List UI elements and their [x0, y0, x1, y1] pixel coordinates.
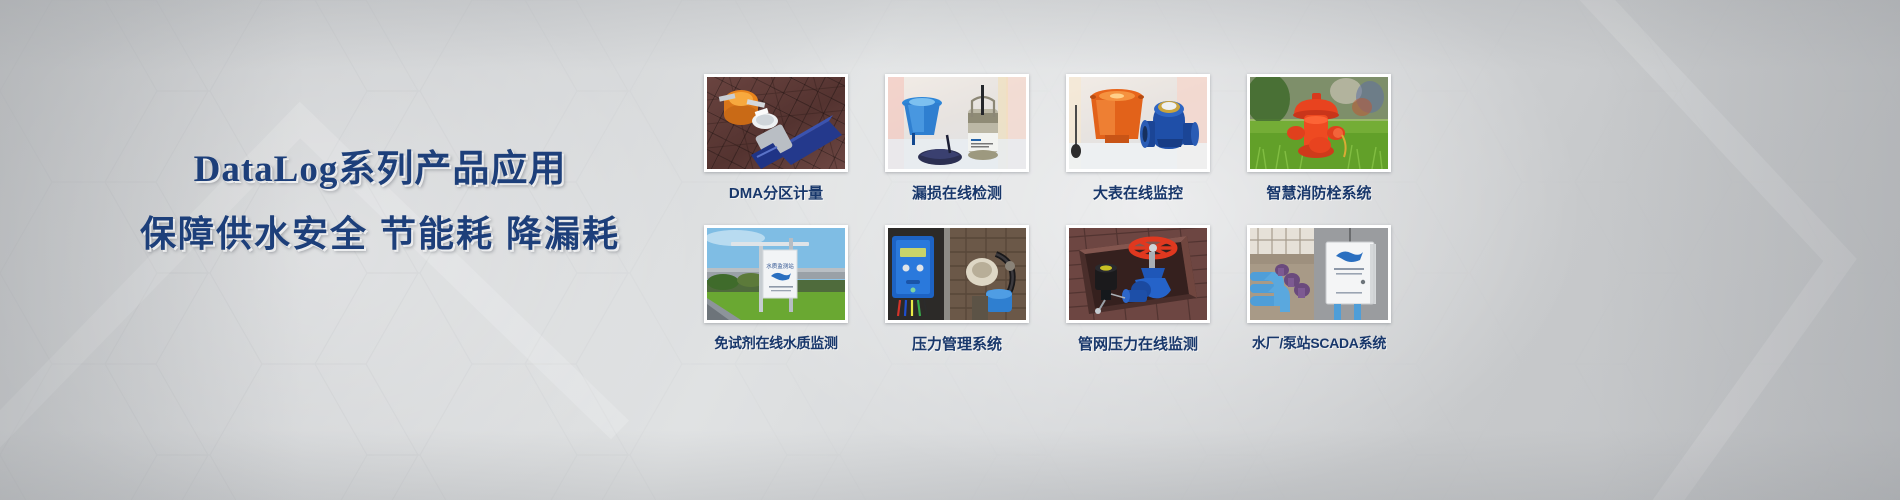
thumbnail-image-pump-station-scada	[1250, 228, 1388, 320]
grid-item-large-meter[interactable]: 大表在线监控	[1066, 74, 1210, 203]
thumbnail-image-fire-hydrant	[1250, 77, 1388, 169]
thumbnail-frame[interactable]	[704, 74, 848, 172]
thumbnail-image-valve-chamber	[1069, 228, 1207, 320]
headline-block: DataLog系列产品应用 保障供水安全 节能耗 降漏耗	[0, 146, 760, 260]
grid-item-leak-detection[interactable]: 漏损在线检测	[885, 74, 1029, 203]
headline-line-2: 保障供水安全 节能耗 降漏耗	[0, 208, 760, 260]
grid-item-smart-hydrant[interactable]: 智慧消防栓系统	[1247, 74, 1391, 203]
product-application-banner: DataLog系列产品应用 保障供水安全 节能耗 降漏耗	[0, 0, 1900, 500]
thumbnail-frame[interactable]	[885, 225, 1029, 323]
thumbnail-frame[interactable]	[1066, 74, 1210, 172]
headline-line-1: DataLog系列产品应用	[0, 146, 760, 194]
thumbnail-image-pressure-controller	[888, 228, 1026, 320]
grid-item-caption: 智慧消防栓系统	[1247, 182, 1391, 203]
grid-item-water-quality[interactable]: 水质监测站 免试剂在线水质监测	[704, 225, 848, 354]
grid-item-pressure-management[interactable]: 压力管理系统	[885, 225, 1029, 354]
grid-item-caption: 压力管理系统	[885, 333, 1029, 354]
grid-item-network-pressure[interactable]: 管网压力在线监测	[1066, 225, 1210, 354]
grid-item-scada[interactable]: 水厂/泵站SCADA系统	[1247, 225, 1391, 354]
thumbnail-image-water-quality-station: 水质监测站	[707, 228, 845, 320]
thumbnail-image-leak-loggers	[888, 77, 1026, 169]
thumbnail-frame[interactable]: 水质监测站	[704, 225, 848, 323]
grid-item-caption: 漏损在线检测	[885, 182, 1029, 203]
thumbnail-frame[interactable]	[1247, 74, 1391, 172]
thumbnail-image-large-meter	[1069, 77, 1207, 169]
thumbnail-frame[interactable]	[885, 74, 1029, 172]
grid-item-caption: DMA分区计量	[704, 182, 848, 203]
grid-item-caption: 水厂/泵站SCADA系统	[1247, 333, 1391, 353]
grid-item-dma[interactable]: DMA分区计量	[704, 74, 848, 203]
grid-item-caption: 大表在线监控	[1066, 182, 1210, 203]
application-grid: DMA分区计量	[704, 74, 1391, 354]
thumbnail-frame[interactable]	[1066, 225, 1210, 323]
thumbnail-image-dma-flowmeter	[707, 77, 845, 169]
grid-item-caption: 管网压力在线监测	[1066, 333, 1210, 354]
thumbnail-frame[interactable]	[1247, 225, 1391, 323]
grid-item-caption: 免试剂在线水质监测	[704, 333, 848, 353]
svg-text:水质监测站: 水质监测站	[766, 262, 794, 270]
